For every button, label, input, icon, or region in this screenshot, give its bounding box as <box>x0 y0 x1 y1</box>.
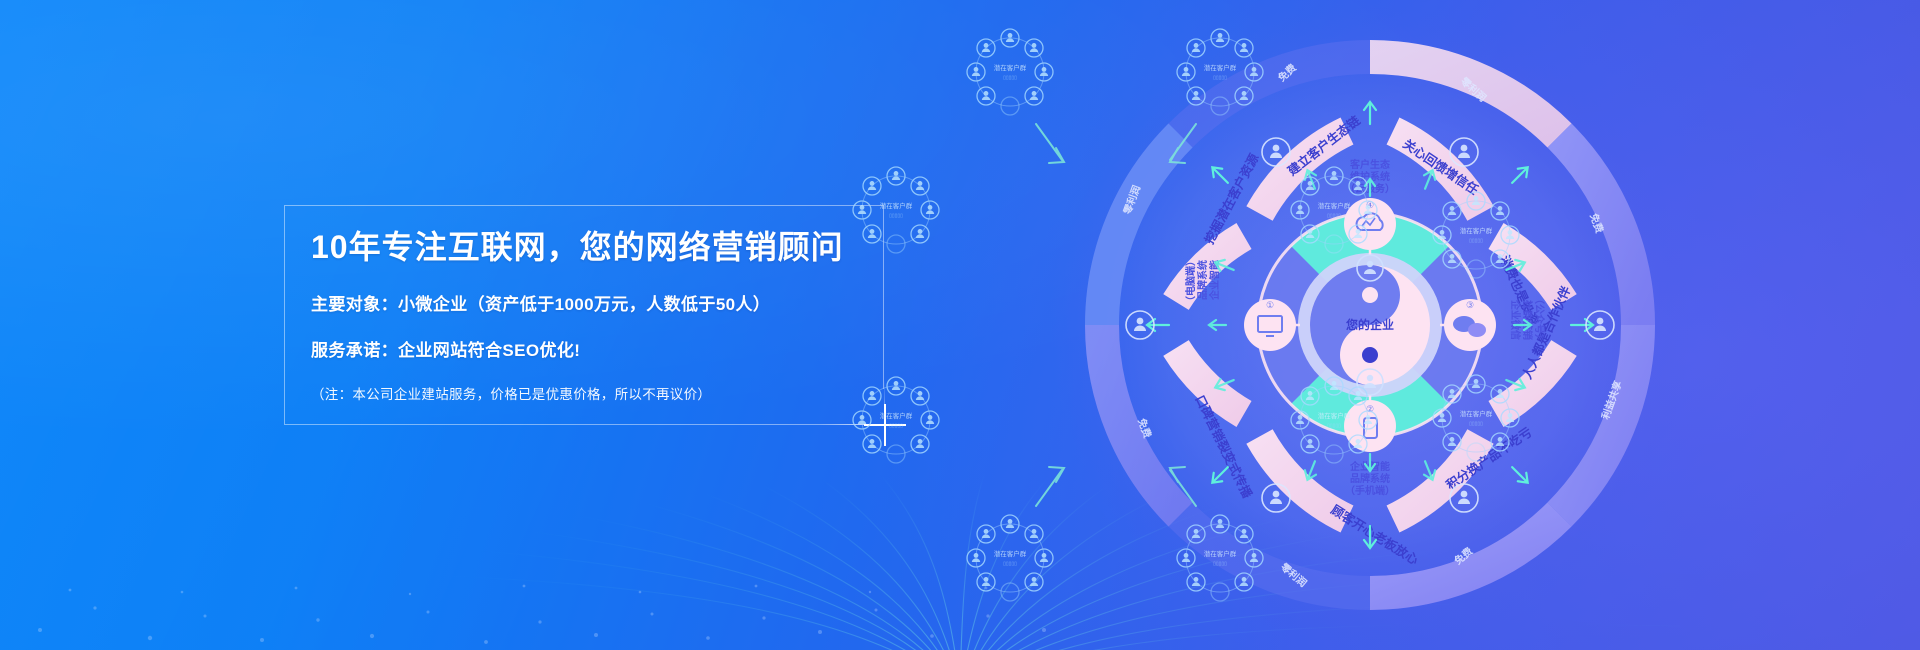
svg-text:口碑营销裂变式传播: 口碑营销裂变式传播 <box>1192 393 1255 501</box>
mobile-icon <box>1364 418 1377 438</box>
svg-text:品牌系统: 品牌系统 <box>1196 260 1209 300</box>
yin-yang-icon <box>1310 265 1430 385</box>
ecosystem-wheel-graphic: 免费 零利润 免费 利益共享 免费 零利润 免费 零利润 建立客户生态链 关心回… <box>1030 0 1710 650</box>
crosshair-tail-left <box>820 424 866 425</box>
outer-avatar-badges <box>1126 138 1614 512</box>
svg-text:企业微信: 企业微信 <box>1509 299 1522 340</box>
monitor-icon <box>1258 316 1282 336</box>
svg-text:维护系统: 维护系统 <box>1350 170 1390 183</box>
inner-node-bottom: ② 企业智能 品牌系统 （手机端） <box>1344 395 1396 497</box>
target-audience-line: 主要对象：小微企业（资产低于1000万元，人数低于50人） <box>311 290 871 315</box>
svg-text:零利润: 零利润 <box>1277 560 1309 590</box>
svg-text:免费: 免费 <box>1587 212 1606 235</box>
cloud-icon <box>1357 213 1383 230</box>
mid-ring <box>1176 131 1564 519</box>
svg-text:免费: 免费 <box>1452 544 1476 567</box>
inner-node-left: ① 企业智能 品牌系统 （电脑端） <box>1184 256 1300 351</box>
svg-text:积分换产品不吃亏: 积分换产品不吃亏 <box>1443 424 1535 493</box>
svg-text:顾客开心老板放心: 顾客开心老板放心 <box>1328 502 1421 568</box>
svg-text:①: ① <box>1266 300 1274 310</box>
svg-text:建立客户生态链: 建立客户生态链 <box>1285 112 1364 178</box>
svg-text:（手机端）: （手机端） <box>1345 484 1395 497</box>
svg-text:（公众号）: （公众号） <box>1533 294 1546 344</box>
svg-text:挖掘潜在客户资源: 挖掘潜在客户资源 <box>1201 151 1261 247</box>
svg-text:企业智能: 企业智能 <box>1208 260 1221 301</box>
svg-text:（电脑端）: （电脑端） <box>1184 256 1197 306</box>
svg-text:社群营销: 社群营销 <box>1521 299 1534 340</box>
wheel-center-label: 您的企业 <box>1346 317 1394 332</box>
flow-arrows <box>1055 10 1686 641</box>
svg-text:零利润: 零利润 <box>1457 74 1489 104</box>
inner-node-top: ④ 客户生态 维护系统 （云服务） <box>1344 158 1396 255</box>
svg-text:人人都是合作伙伴: 人人都是合作伙伴 <box>1519 283 1574 381</box>
ring-avatar-badges <box>1357 255 1383 395</box>
page-title: 10年专注互联网，您的网络营销顾问 <box>311 228 871 266</box>
svg-text:（云服务）: （云服务） <box>1345 182 1395 195</box>
banner-copy: 10年专注互联网，您的网络营销顾问 主要对象：小微企业（资产低于1000万元，人… <box>311 228 871 403</box>
svg-text:②: ② <box>1366 404 1374 414</box>
outer-ring-labels: 免费 零利润 免费 利益共享 免费 零利润 免费 零利润 <box>1120 61 1624 589</box>
inner-node-right: ③ 企业微信 社群营销 （公众号） <box>1440 294 1546 351</box>
chat-icon <box>1453 316 1486 337</box>
svg-text:④: ④ <box>1366 200 1374 210</box>
svg-text:免费: 免费 <box>1275 61 1299 84</box>
svg-text:③: ③ <box>1466 300 1474 310</box>
svg-text:品牌系统: 品牌系统 <box>1350 472 1390 485</box>
outer-ring <box>1102 57 1638 593</box>
svg-text:企业智能: 企业智能 <box>1349 460 1390 473</box>
marketing-banner: 10年专注互联网，您的网络营销顾问 主要对象：小微企业（资产低于1000万元，人… <box>0 0 1920 650</box>
inner-wheel: 您的企业 <box>1258 213 1482 437</box>
avatar-clusters: 潜在客户群 ▯▯▯▯▯ <box>840 20 1920 630</box>
svg-text:免费: 免费 <box>1135 417 1154 440</box>
svg-text:关心回馈增信任: 关心回馈增信任 <box>1400 136 1481 198</box>
svg-text:零利润: 零利润 <box>1120 183 1143 217</box>
pricing-note: （注：本公司企业建站服务，价格已是优惠价格，所以不再议价） <box>311 383 871 403</box>
service-promise-line: 服务承诺：企业网站符合SEO优化! <box>311 336 871 361</box>
svg-text:消费也是投资: 消费也是投资 <box>1497 253 1541 328</box>
crosshair-tail-top <box>884 380 885 426</box>
svg-text:客户生态: 客户生态 <box>1349 158 1390 171</box>
svg-text:利益共享: 利益共享 <box>1599 379 1625 421</box>
mid-ring-labels: 建立客户生态链 关心回馈增信任 消费也是投资 人人都是合作伙伴 积分换产品不吃亏… <box>1192 112 1573 567</box>
decorative-dot-field <box>0 480 1100 650</box>
